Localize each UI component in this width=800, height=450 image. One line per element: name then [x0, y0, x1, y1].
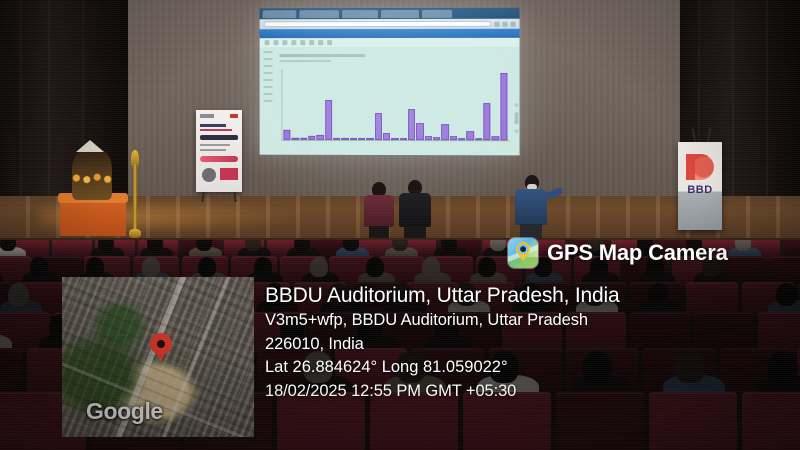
code-line [279, 54, 365, 57]
audience-member-head [198, 257, 216, 276]
audience-member-head [86, 257, 104, 276]
map-pin-icon [150, 333, 172, 363]
url-field [264, 21, 492, 27]
gps-address-line-2: 226010, India [265, 333, 795, 357]
chart-y-axis [281, 69, 282, 141]
chart-x-axis [281, 140, 509, 141]
notebook-toolbar [260, 38, 520, 47]
chart-bar [500, 73, 507, 141]
browser-titlebar [260, 8, 520, 20]
gps-location-title: BBDU Auditorium, Uttar Pradesh, India [265, 283, 795, 309]
scroll-dot-icon [515, 129, 519, 133]
auditorium-photo: BBD Google GPS Map Camera BBDU Auditoriu… [0, 0, 800, 450]
audience-member-head [366, 257, 384, 276]
audience-member-head [30, 257, 48, 276]
google-watermark: Google [86, 398, 163, 425]
audience-member-head [142, 257, 160, 276]
flower-offering-icon [64, 186, 108, 198]
gps-brand-name: GPS Map Camera [547, 240, 728, 266]
gps-brand-row: GPS Map Camera [508, 238, 728, 268]
audience-member-head [422, 257, 440, 276]
marigold-garland-icon [66, 170, 118, 186]
app-header-bar [260, 29, 520, 38]
gps-map-thumbnail[interactable]: Google [62, 277, 254, 437]
chart-bar [466, 131, 473, 140]
chart-bar [416, 123, 423, 140]
chart-bar [408, 109, 415, 140]
browser-address-bar [260, 19, 520, 30]
audience-member-head [478, 257, 496, 276]
podium-label: BBD [678, 184, 722, 196]
gps-info-block: BBDU Auditorium, Uttar Pradesh, India V3… [265, 283, 795, 404]
audience-member-head [254, 257, 272, 276]
podium: BBD [678, 142, 722, 230]
chart-bars [283, 69, 507, 140]
brass-lamp-icon [130, 150, 140, 238]
chart-bar [283, 130, 290, 140]
chart-bar [441, 124, 448, 140]
bbd-logo-bar [686, 154, 695, 180]
audience-member-head [310, 257, 328, 276]
code-line [279, 60, 331, 62]
gps-address-line-1: V3m5+wfp, BBDU Auditorium, Uttar Pradesh [265, 309, 795, 333]
notebook-body [260, 47, 520, 155]
bar-chart [281, 69, 509, 141]
notebook-gutter [264, 51, 273, 151]
gps-timestamp: 18/02/2025 12:55 PM GMT +05:30 [265, 380, 795, 404]
gps-map-camera-logo-icon [508, 238, 538, 268]
chart-x-label [281, 153, 509, 154]
scroll-dot-icon [515, 103, 519, 107]
chart-bar [325, 100, 332, 140]
scrollbar[interactable] [515, 112, 519, 124]
chart-bar [375, 113, 382, 140]
standee-banner-icon [196, 110, 242, 192]
chart-bar [383, 133, 390, 140]
auditorium-seat [0, 348, 22, 396]
audience-member-head [8, 283, 29, 306]
projection-screen [260, 8, 520, 156]
gps-coordinates: Lat 26.884624° Long 81.059022° [265, 356, 795, 380]
standee-legs [196, 192, 242, 204]
chart-bar [483, 103, 490, 140]
